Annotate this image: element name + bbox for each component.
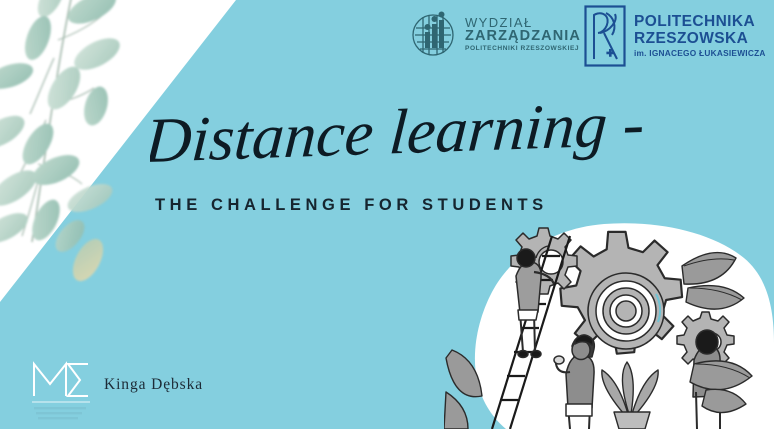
pr-monogram-icon xyxy=(584,5,626,67)
faculty-logo-line3: POLITECHNIKI RZESZOWSKIEJ xyxy=(465,46,581,53)
faculty-logo: WYDZIAŁ ZARZĄDZANIA POLITECHNIKI RZESZOW… xyxy=(408,8,581,60)
faculty-globe-emblem-icon xyxy=(408,8,458,60)
university-logo-line3: im. IGNACEGO ŁUKASIEWICZA xyxy=(634,49,766,58)
faculty-logo-line2: ZARZĄDZANIA xyxy=(465,29,581,44)
slide-title-text: Distance learning - xyxy=(150,104,647,176)
university-logo: POLITECHNIKA RZESZOWSKA im. IGNACEGO ŁUK… xyxy=(584,5,766,67)
author-name: Kinga Dębska xyxy=(104,376,203,394)
faculty-logo-line1: WYDZIAŁ xyxy=(465,16,581,29)
header-logos: WYDZIAŁ ZARZĄDZANIA POLITECHNIKI RZESZOW… xyxy=(0,0,774,80)
university-logo-line2: RZESZOWSKA xyxy=(634,31,766,47)
slide-subtitle: THE CHALLENGE FOR STUDENTS xyxy=(155,196,548,215)
people-with-gears-illustration xyxy=(444,214,774,429)
presentation-slide: WYDZIAŁ ZARZĄDZANIA POLITECHNIKI RZESZOW… xyxy=(0,0,774,429)
slide-title: Distance learning - xyxy=(150,104,750,186)
ME-monogram-icon xyxy=(24,352,98,424)
university-logo-line1: POLITECHNIKA xyxy=(634,14,766,30)
